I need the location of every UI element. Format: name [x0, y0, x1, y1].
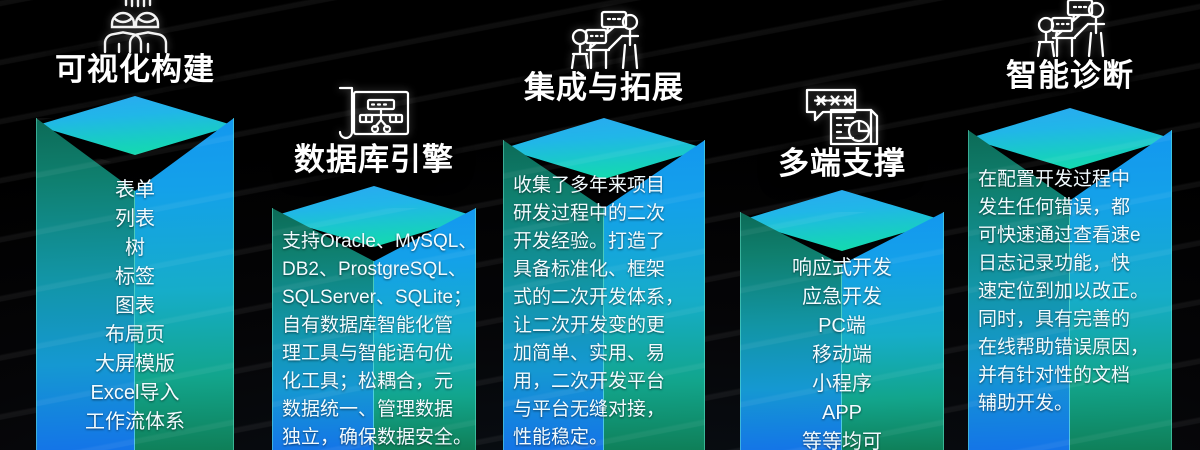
column-title: 集成与拓展 [503, 72, 705, 105]
feature-column-database-engine[interactable]: 数据库引擎支持Oracle、MySQL、DB2、ProstgreSQL、SQLS… [272, 0, 476, 450]
feature-item: 工作流体系 [36, 408, 234, 437]
description-line: 加简单、实用、易 [513, 340, 715, 368]
description-line: 独立，确保数据安全。 [282, 424, 486, 450]
two-people-chat-desk-icon [503, 10, 705, 72]
description-line: 性能稳定。 [513, 424, 715, 450]
column-title: 可视化构建 [36, 54, 234, 87]
column-content-integration-extension: 收集了多年来项目研发过程中的二次开发经验。打造了具备标准化、框架式的二次开发体系… [503, 172, 715, 450]
description-line: 与平台无缝对接， [513, 396, 715, 424]
description-line: 发生任何错误，都 [978, 194, 1182, 222]
description-line: 同时，具有完善的 [978, 306, 1182, 334]
feature-item: PC端 [740, 312, 944, 341]
description-line: 式的二次开发体系， [513, 284, 715, 312]
description-line: 在线帮助错误原因， [978, 334, 1182, 362]
database-flowchart-icon [272, 82, 476, 144]
column-header-visual-build: 可视化构建 [36, 0, 234, 87]
description-line: 化工具；松耦合，元 [282, 368, 486, 396]
description-line: 让二次开发变的更 [513, 312, 715, 340]
description-line: 辅助开发。 [978, 390, 1182, 418]
feature-item: 树 [36, 234, 234, 263]
feature-column-integration-extension[interactable]: 集成与拓展收集了多年来项目研发过程中的二次开发经验。打造了具备标准化、框架式的二… [503, 0, 705, 450]
column-title: 数据库引擎 [272, 144, 476, 177]
column-header-smart-diagnosis: 智能诊断 [968, 0, 1172, 93]
feature-item: 大屏模版 [36, 350, 234, 379]
column-content-visual-build: 表单列表树标签图表布局页大屏模版Excel导入工作流体系 [36, 176, 234, 437]
feature-item: 表单 [36, 176, 234, 205]
description-line: 具备标准化、框架 [513, 256, 715, 284]
column-title: 多端支撑 [740, 148, 944, 181]
column-header-multi-terminal-support: 多端支撑 [740, 86, 944, 181]
column-content-smart-diagnosis: 在配置开发过程中发生任何错误，都可快速通过查看速e日志记录功能，快速定位到加以改… [968, 166, 1182, 418]
feature-item: 等等均可 [740, 428, 944, 450]
description-line: DB2、ProstgreSQL、 [282, 256, 486, 284]
column-header-integration-extension: 集成与拓展 [503, 10, 705, 105]
description-line: 用，二次开发平台 [513, 368, 715, 396]
infographic-canvas: 可视化构建表单列表树标签图表布局页大屏模版Excel导入工作流体系 数据库引擎支… [0, 0, 1200, 450]
feature-column-multi-terminal-support[interactable]: 多端支撑响应式开发应急开发PC端移动端小程序APP等等均可 [740, 0, 944, 450]
column-content-multi-terminal-support: 响应式开发应急开发PC端移动端小程序APP等等均可 [740, 254, 944, 450]
feature-item: 小程序 [740, 370, 944, 399]
feature-item: APP [740, 399, 944, 428]
description-line: 自有数据库智能化管 [282, 312, 486, 340]
column-title: 智能诊断 [968, 60, 1172, 93]
description-line: 在配置开发过程中 [978, 166, 1182, 194]
feature-item: 应急开发 [740, 283, 944, 312]
column-content-database-engine: 支持Oracle、MySQL、DB2、ProstgreSQL、SQLServer… [272, 228, 486, 450]
description-line: 支持Oracle、MySQL、 [282, 228, 486, 256]
feature-item: Excel导入 [36, 379, 234, 408]
feature-item: 移动端 [740, 341, 944, 370]
chat-bubble-report-icon [740, 86, 944, 148]
description-line: 开发经验。打造了 [513, 228, 715, 256]
two-people-icon [36, 0, 234, 54]
feature-item: 列表 [36, 205, 234, 234]
feature-item: 图表 [36, 292, 234, 321]
feature-item: 标签 [36, 263, 234, 292]
description-line: 可快速通过查看速e [978, 222, 1182, 250]
description-line: 理工具与智能语句优 [282, 340, 486, 368]
feature-column-visual-build[interactable]: 可视化构建表单列表树标签图表布局页大屏模版Excel导入工作流体系 [36, 0, 234, 450]
description-line: 数据统一、管理数据 [282, 396, 486, 424]
column-header-database-engine: 数据库引擎 [272, 82, 476, 177]
description-line: SQLServer、SQLite； [282, 284, 486, 312]
feature-column-smart-diagnosis[interactable]: 智能诊断在配置开发过程中发生任何错误，都可快速通过查看速e日志记录功能，快速定位… [968, 0, 1172, 450]
feature-item: 布局页 [36, 321, 234, 350]
description-line: 速定位到加以改正。 [978, 278, 1182, 306]
two-people-chat-desk-icon [968, 0, 1172, 60]
feature-item: 响应式开发 [740, 254, 944, 283]
description-line: 收集了多年来项目 [513, 172, 715, 200]
description-line: 研发过程中的二次 [513, 200, 715, 228]
description-line: 并有针对性的文档 [978, 362, 1182, 390]
description-line: 日志记录功能，快 [978, 250, 1182, 278]
